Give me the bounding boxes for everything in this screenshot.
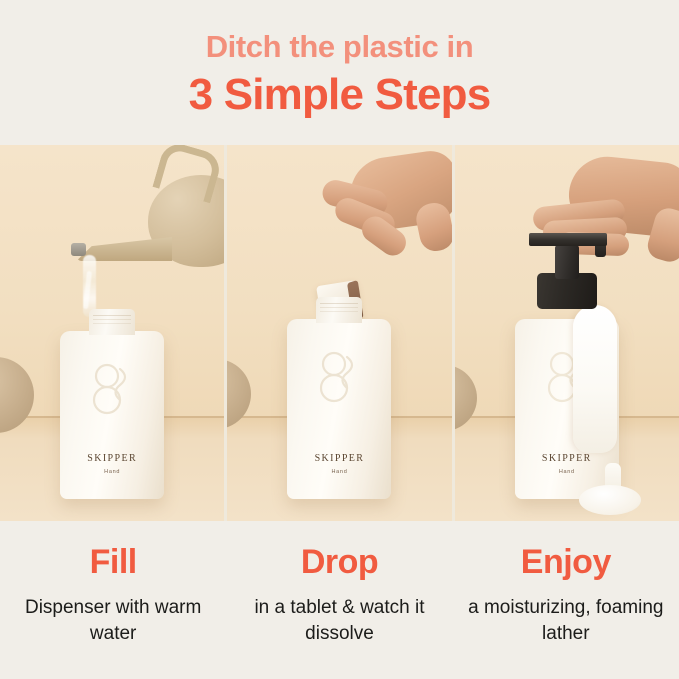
step-description: a moisturizing, foaming lather	[468, 595, 664, 647]
step-enjoy: Enjoy a moisturizing, foaming lather	[453, 545, 679, 679]
dispenser-bottle: SKIPPER Hand	[60, 331, 164, 499]
brand-variant: Hand	[287, 469, 391, 475]
pump-press-bar	[529, 233, 607, 246]
step-fill: Fill Dispenser with warm water	[0, 545, 226, 679]
step-title: Enjoy	[521, 545, 611, 579]
brand-name: SKIPPER	[515, 453, 619, 464]
brand-name: SKIPPER	[60, 453, 164, 464]
step-title: Drop	[301, 545, 378, 579]
bottle-neck	[316, 297, 362, 323]
foam-pool	[579, 485, 641, 515]
bottle-label: SKIPPER Hand	[515, 453, 619, 475]
bottle-label: SKIPPER Hand	[60, 453, 164, 475]
step-description: in a tablet & watch it dissolve	[241, 595, 437, 647]
brand-variant: Hand	[515, 469, 619, 475]
header: Ditch the plastic in 3 Simple Steps	[0, 0, 679, 145]
bottle-emboss-logo	[90, 359, 134, 417]
bottle-neck	[89, 309, 135, 335]
step-title: Fill	[90, 545, 137, 579]
steps-row: Fill Dispenser with warm water Drop in a…	[0, 521, 679, 679]
bottle-emboss-logo	[317, 347, 361, 405]
brand-name: SKIPPER	[287, 453, 391, 464]
bottle-label: SKIPPER Hand	[287, 453, 391, 475]
photo-panel-enjoy: SKIPPER Hand	[455, 145, 679, 521]
photo-panel-drop: SKIPPER Hand	[227, 145, 451, 521]
step-drop: Drop in a tablet & watch it dissolve	[226, 545, 452, 679]
brand-variant: Hand	[60, 469, 164, 475]
headline-line-1: Ditch the plastic in	[206, 31, 474, 64]
water-stream-icon	[83, 255, 96, 317]
photo-strip: SKIPPER Hand	[0, 145, 679, 521]
headline-line-2: 3 Simple Steps	[189, 72, 491, 118]
kettle-spout-tip-icon	[71, 243, 86, 256]
pump-stem	[555, 245, 579, 279]
step-description: Dispenser with warm water	[15, 595, 211, 647]
foam-lather	[573, 305, 617, 453]
dispenser-bottle: SKIPPER Hand	[287, 319, 391, 499]
photo-panel-fill: SKIPPER Hand	[0, 145, 224, 521]
hand-icon	[308, 151, 452, 261]
infographic-page: Ditch the plastic in 3 Simple Steps	[0, 0, 679, 679]
